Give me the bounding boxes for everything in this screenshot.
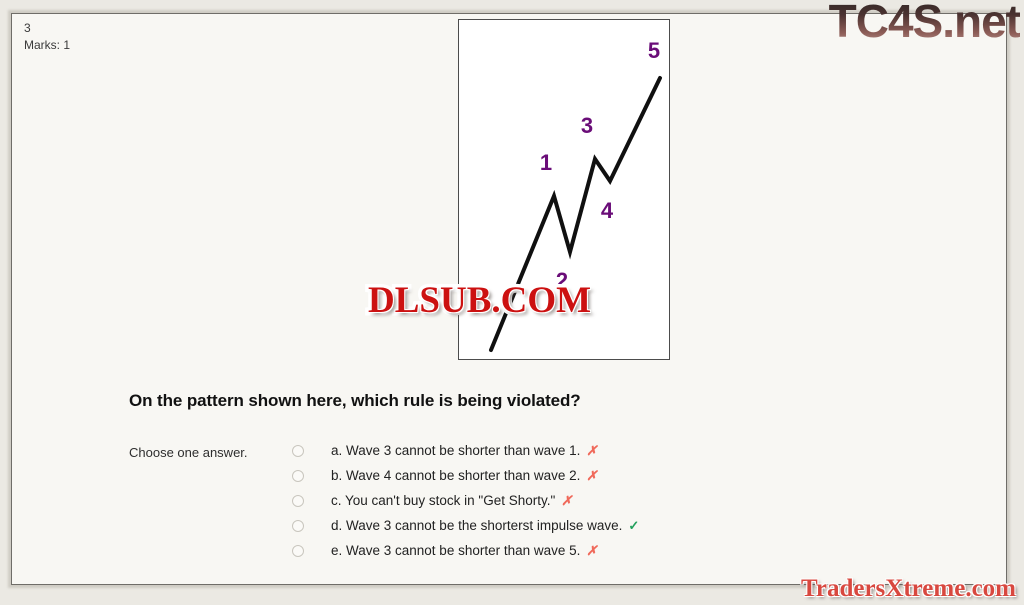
incorrect-icon: ✗ <box>586 543 597 559</box>
question-meta: 3 Marks: 1 <box>24 20 70 54</box>
answer-option-c-label: c. You can't buy stock in "Get Shorty." <box>331 493 555 508</box>
wave-label-4: 4 <box>601 198 614 223</box>
wave-label-3: 3 <box>581 113 593 138</box>
answer-option-e-label: e. Wave 3 cannot be shorter than wave 5. <box>331 543 580 558</box>
watermark-tc4s: TC4S.net <box>829 0 1020 48</box>
answer-option-b[interactable]: b. Wave 4 cannot be shorter than wave 2.… <box>292 463 892 488</box>
incorrect-icon: ✗ <box>586 468 597 484</box>
correct-icon: ✓ <box>628 518 639 534</box>
watermark-dlsub: DLSUB.COM <box>368 279 591 322</box>
answer-option-e[interactable]: e. Wave 3 cannot be shorter than wave 5.… <box>292 538 892 563</box>
radio-option-d[interactable] <box>292 520 304 532</box>
answer-option-a-label: a. Wave 3 cannot be shorter than wave 1. <box>331 443 580 458</box>
radio-option-e[interactable] <box>292 545 304 557</box>
radio-option-b[interactable] <box>292 470 304 482</box>
watermark-tradersxtreme: TradersXtreme.com <box>801 575 1016 603</box>
answer-option-c[interactable]: c. You can't buy stock in "Get Shorty." … <box>292 488 892 513</box>
answer-option-b-label: b. Wave 4 cannot be shorter than wave 2. <box>331 468 580 483</box>
page-root: 3 Marks: 1 1 2 3 4 5 On the pattern show… <box>0 0 1024 605</box>
choose-one-answer-label: Choose one answer. <box>129 445 248 460</box>
answer-option-a[interactable]: a. Wave 3 cannot be shorter than wave 1.… <box>292 438 892 463</box>
incorrect-icon: ✗ <box>586 443 597 459</box>
answer-option-d-label: d. Wave 3 cannot be the shorterst impuls… <box>331 518 622 533</box>
answer-options-list: a. Wave 3 cannot be shorter than wave 1.… <box>292 438 892 563</box>
wave-label-5: 5 <box>648 38 660 63</box>
answer-option-d[interactable]: d. Wave 3 cannot be the shorterst impuls… <box>292 513 892 538</box>
radio-option-a[interactable] <box>292 445 304 457</box>
wave-label-1: 1 <box>540 150 552 175</box>
radio-option-c[interactable] <box>292 495 304 507</box>
question-marks: Marks: 1 <box>24 37 70 54</box>
incorrect-icon: ✗ <box>561 493 572 509</box>
question-stem: On the pattern shown here, which rule is… <box>129 391 889 411</box>
question-number: 3 <box>24 20 70 37</box>
